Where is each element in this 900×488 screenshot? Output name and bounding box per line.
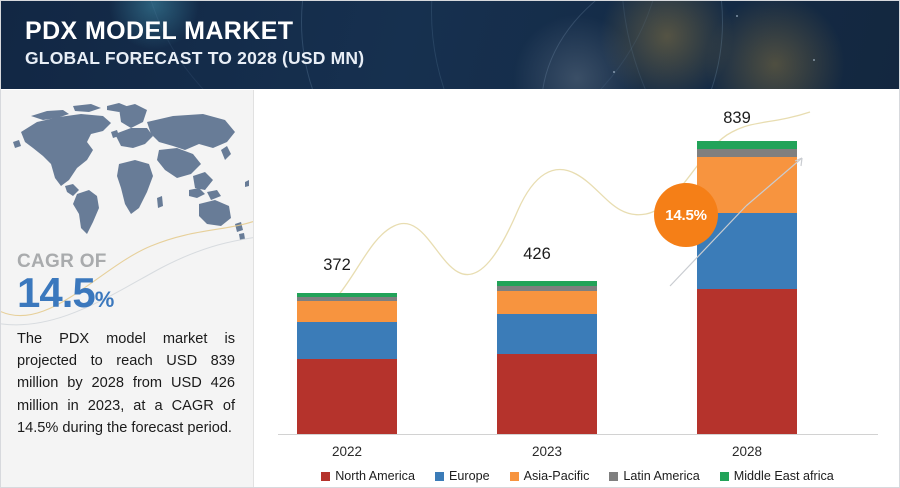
legend-swatch-icon bbox=[720, 472, 729, 481]
chart-panel: 372 2022 426 2023 839 bbox=[254, 90, 900, 488]
bar-2028 bbox=[697, 141, 797, 434]
bar-total-label-2022: 372 bbox=[267, 257, 407, 274]
header-dot-decoration bbox=[613, 71, 615, 73]
cagr-callout-bubble: 14.5% bbox=[654, 183, 718, 247]
summary-description: The PDX model market is projected to rea… bbox=[17, 328, 235, 439]
bar-2023 bbox=[497, 281, 597, 434]
bar-segment-north-america bbox=[297, 359, 397, 434]
bar-segment-asia-pacific bbox=[497, 291, 597, 315]
cagr-callout-text: 14.5% bbox=[665, 207, 707, 224]
cagr-block: CAGR OF 14.5% bbox=[17, 252, 237, 314]
bar-segment-latin-america bbox=[697, 149, 797, 157]
plot-area: 372 2022 426 2023 839 bbox=[254, 90, 900, 488]
legend-item-asia-pacific[interactable]: Asia-Pacific bbox=[510, 470, 590, 483]
page-title: PDX MODEL MARKET bbox=[25, 18, 364, 44]
header-dot-decoration bbox=[736, 15, 738, 17]
legend-item-europe[interactable]: Europe bbox=[435, 470, 490, 483]
legend-swatch-icon bbox=[321, 472, 330, 481]
bar-segment-middle-east-africa bbox=[697, 141, 797, 149]
legend-item-north-america[interactable]: North America bbox=[321, 470, 415, 483]
bar-segment-europe bbox=[297, 322, 397, 359]
legend-label: North America bbox=[335, 470, 415, 483]
x-axis-label-2022: 2022 bbox=[277, 445, 417, 459]
bar-total-label-2023: 426 bbox=[467, 246, 607, 263]
cagr-number: 14.5 bbox=[17, 269, 95, 316]
header-arc-decoration bbox=[621, 1, 900, 89]
legend-swatch-icon bbox=[609, 472, 618, 481]
header-dot-decoration bbox=[813, 59, 815, 61]
legend-swatch-icon bbox=[435, 472, 444, 481]
legend-item-latin-america[interactable]: Latin America bbox=[609, 470, 699, 483]
x-axis-label-2028: 2028 bbox=[677, 445, 817, 459]
legend-label: Asia-Pacific bbox=[524, 470, 590, 483]
legend-swatch-icon bbox=[510, 472, 519, 481]
x-axis-label-2023: 2023 bbox=[477, 445, 617, 459]
legend-label: Middle East africa bbox=[734, 470, 834, 483]
bar-2022 bbox=[297, 293, 397, 434]
legend-item-middle-east-africa[interactable]: Middle East africa bbox=[720, 470, 834, 483]
bar-segment-asia-pacific bbox=[297, 301, 397, 323]
x-axis-line bbox=[278, 434, 878, 435]
chart-legend: North America Europe Asia-Pacific Latin … bbox=[254, 470, 900, 483]
infographic-root: PDX MODEL MARKET GLOBAL FORECAST TO 2028… bbox=[0, 0, 900, 488]
header-banner: PDX MODEL MARKET GLOBAL FORECAST TO 2028… bbox=[1, 1, 900, 89]
cagr-percent-symbol: % bbox=[95, 287, 115, 312]
page-subtitle: GLOBAL FORECAST TO 2028 (USD MN) bbox=[25, 49, 364, 68]
legend-label: Latin America bbox=[623, 470, 699, 483]
summary-sidebar: CAGR OF 14.5% The PDX model market is pr… bbox=[1, 90, 254, 488]
bar-segment-europe bbox=[497, 314, 597, 353]
world-map-icon bbox=[7, 98, 250, 250]
cagr-value: 14.5% bbox=[17, 272, 237, 314]
bar-segment-north-america bbox=[497, 354, 597, 434]
bar-segment-north-america bbox=[697, 289, 797, 434]
header-text-group: PDX MODEL MARKET GLOBAL FORECAST TO 2028… bbox=[25, 18, 364, 68]
bar-total-label-2028: 839 bbox=[667, 110, 807, 127]
legend-label: Europe bbox=[449, 470, 490, 483]
